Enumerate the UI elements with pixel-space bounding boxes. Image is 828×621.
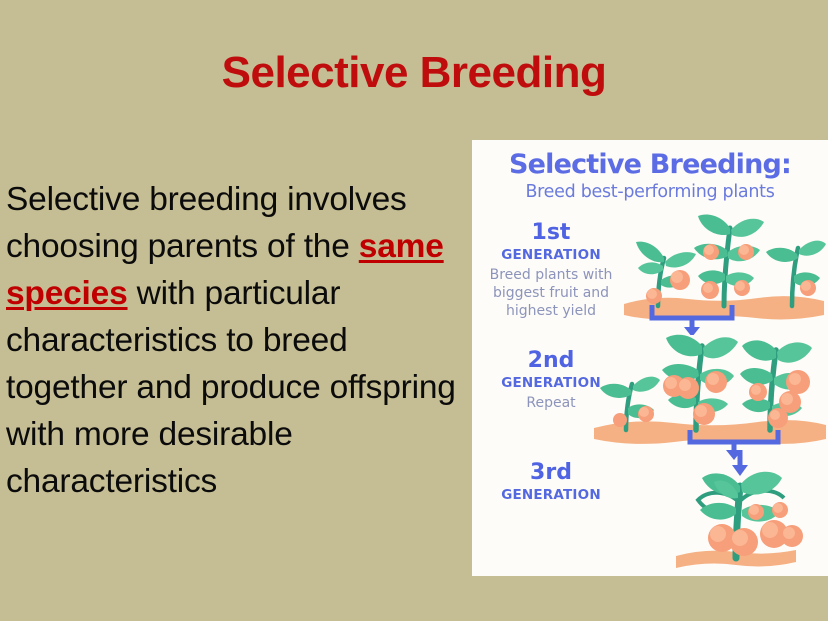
infographic-card: Selective Breeding: Breed best-performin… <box>472 140 828 576</box>
slide-canvas: Selective Breeding Selective breeding in… <box>0 0 828 621</box>
generation-3-label: GENERATION <box>476 486 626 504</box>
generation-1-description: Breed plants with biggest fruit and high… <box>476 266 626 320</box>
body-paragraph: Selective breeding involves choosing par… <box>6 176 472 505</box>
plant-icon-1 <box>636 242 696 306</box>
generation-1-label: GENERATION <box>476 246 626 264</box>
body-text-part-1: Selective breeding involves choosing par… <box>6 181 407 265</box>
page-title: Selective Breeding <box>0 47 828 99</box>
plant-icon-2 <box>662 335 738 430</box>
generation-1-ordinal: 1st <box>476 220 626 246</box>
generation-2-plants-illustration <box>592 320 828 460</box>
plant-icon-2 <box>694 215 764 307</box>
generation-3-ordinal: 3rd <box>476 460 626 486</box>
generation-1-plants-illustration <box>620 200 828 335</box>
plant-icon-3 <box>740 340 812 430</box>
plant-icon-1 <box>698 472 803 558</box>
incoming-arrow-3 <box>732 450 748 476</box>
generation-block-3: 3rd GENERATION <box>476 460 626 504</box>
generation-block-1: 1st GENERATION Breed plants with biggest… <box>476 220 626 320</box>
infographic-title: Selective Breeding: <box>472 149 828 180</box>
generation-3-plant-illustration <box>652 450 828 576</box>
plant-icon-3 <box>766 241 826 306</box>
